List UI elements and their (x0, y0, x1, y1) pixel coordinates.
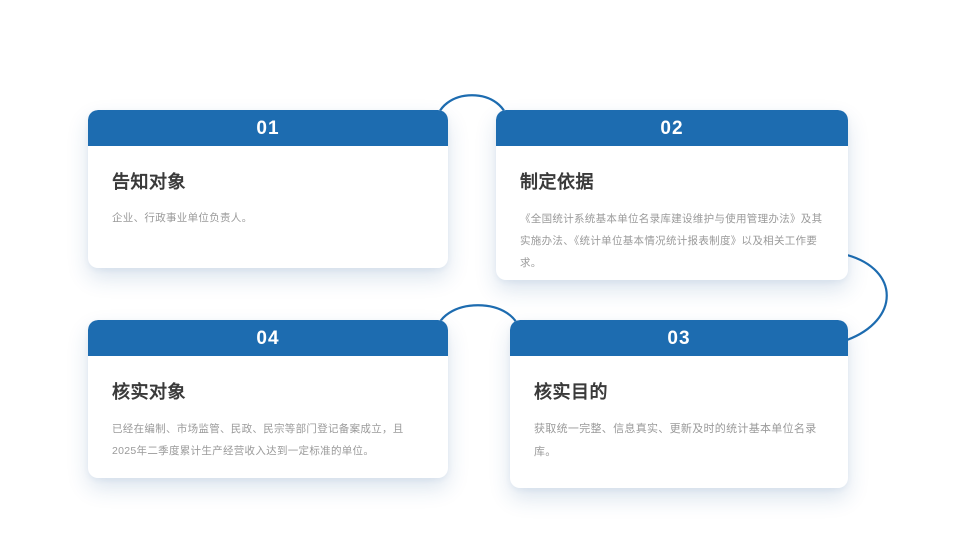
card-03-title: 核实目的 (534, 382, 824, 404)
card-02-body: 制定依据 《全国统计系统基本单位名录库建设维护与使用管理办法》及其实施办法、《统… (496, 146, 848, 280)
card-04-body: 核实对象 已经在编制、市场监管、民政、民宗等部门登记备案成立，且2025年二季度… (88, 356, 448, 478)
card-02-number: 02 (660, 119, 683, 138)
card-04-number: 04 (256, 329, 279, 348)
card-03-description: 获取统一完整、信息真实、更新及时的统计基本单位名录库。 (534, 418, 824, 464)
card-02-title: 制定依据 (520, 172, 824, 194)
card-01-header: 01 (88, 110, 448, 146)
card-04-header: 04 (88, 320, 448, 356)
card-02-header: 02 (496, 110, 848, 146)
card-04-title: 核实对象 (112, 382, 424, 404)
card-03-header: 03 (510, 320, 848, 356)
card-04[interactable]: 04 核实对象 已经在编制、市场监管、民政、民宗等部门登记备案成立，且2025年… (88, 320, 448, 478)
card-01[interactable]: 01 告知对象 企业、行政事业单位负责人。 (88, 110, 448, 268)
slide-canvas: 01 告知对象 企业、行政事业单位负责人。 02 制定依据 《全国统计系统基本单… (0, 0, 960, 540)
card-03[interactable]: 03 核实目的 获取统一完整、信息真实、更新及时的统计基本单位名录库。 (510, 320, 848, 488)
card-01-description: 企业、行政事业单位负责人。 (112, 208, 424, 228)
card-04-description: 已经在编制、市场监管、民政、民宗等部门登记备案成立，且2025年二季度累计生产经… (112, 418, 424, 462)
card-02-description: 《全国统计系统基本单位名录库建设维护与使用管理办法》及其实施办法、《统计单位基本… (520, 208, 824, 274)
card-02[interactable]: 02 制定依据 《全国统计系统基本单位名录库建设维护与使用管理办法》及其实施办法… (496, 110, 848, 280)
card-01-number: 01 (256, 119, 279, 138)
arc-right-02-to-03 (847, 255, 887, 340)
card-01-body: 告知对象 企业、行政事业单位负责人。 (88, 146, 448, 248)
card-01-title: 告知对象 (112, 172, 424, 194)
card-03-number: 03 (667, 329, 690, 348)
card-03-body: 核实目的 获取统一完整、信息真实、更新及时的统计基本单位名录库。 (510, 356, 848, 484)
arc-middle-04-to-03 (436, 305, 520, 336)
